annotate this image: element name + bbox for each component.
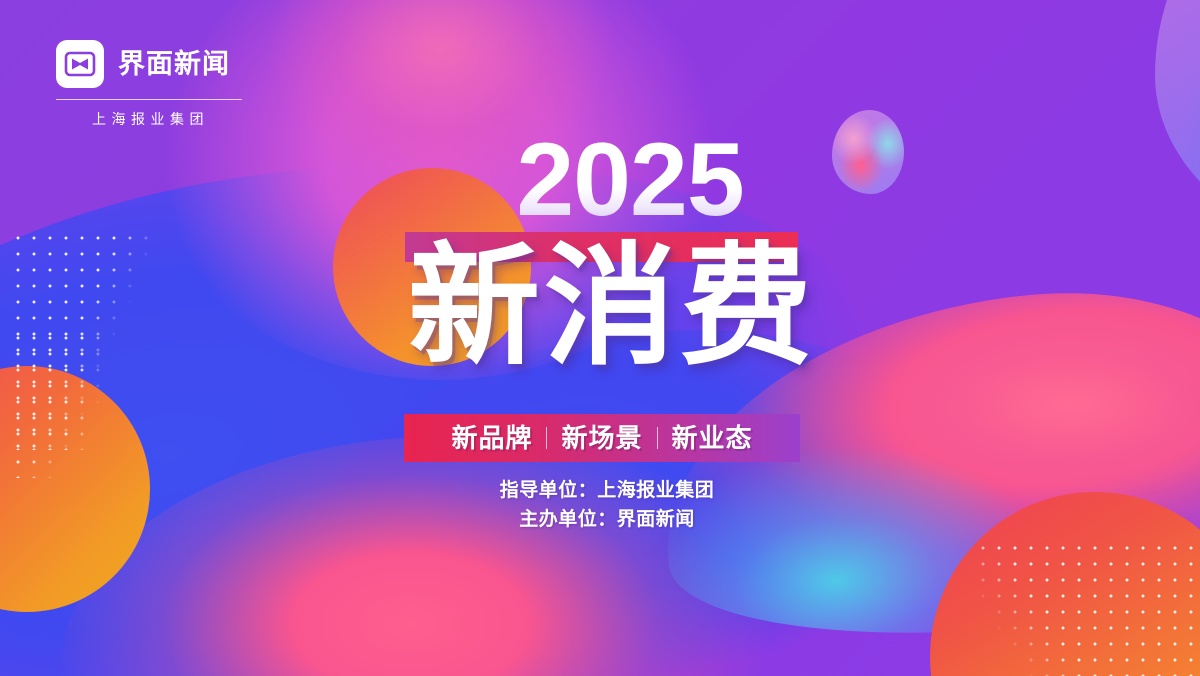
brand-parent-company: 上海报业集团: [56, 109, 242, 129]
brand-logo-row: 界面新闻: [56, 40, 242, 88]
brand-name: 界面新闻: [118, 51, 230, 78]
dot-matrix-bottom-right: [975, 540, 1200, 676]
credit-organizing-unit: 主办单位：界面新闻: [14, 506, 1200, 535]
brand-divider: [56, 99, 242, 100]
tagline-item-1: 新品牌: [437, 425, 546, 451]
tagline-bar: 新品牌 新场景 新业态: [404, 414, 800, 462]
credits-block: 指导单位：上海报业集团 主办单位：界面新闻: [0, 477, 1200, 535]
jiemian-screen-icon: [56, 40, 104, 88]
credit-guiding-unit: 指导单位：上海报业集团: [14, 477, 1200, 506]
tagline-item-2: 新场景: [547, 425, 656, 451]
tagline-item-3: 新业态: [658, 425, 767, 451]
headline-title: 新消费: [0, 236, 1200, 377]
year-title: 2025: [0, 128, 1200, 232]
brand-logo[interactable]: 界面新闻 上海报业集团: [56, 40, 242, 129]
poster-canvas: 界面新闻 上海报业集团 2025 新消费 新品牌 新场景 新业态 指导单位：上海…: [0, 0, 1200, 676]
